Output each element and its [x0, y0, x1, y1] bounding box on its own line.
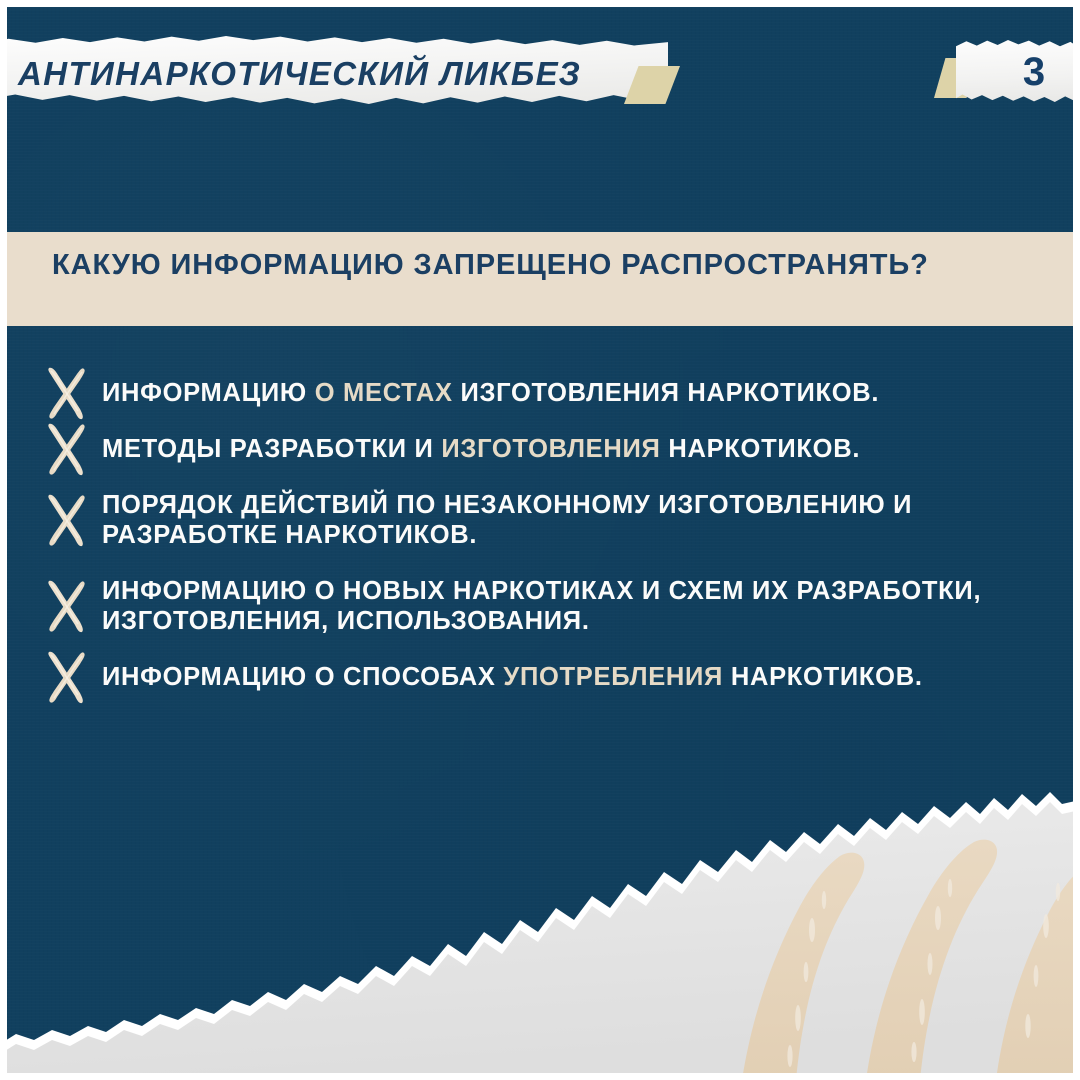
- plain-phrase: ИЗГОТОВЛЕНИЯ НАРКОТИКОВ.: [460, 379, 879, 407]
- list-item-text: ИНФОРМАЦИЮ О СПОСОБАХ УПОТРЕБЛЕНИЯ НАРКО…: [102, 662, 1004, 692]
- banner-title: АНТИНАРКОТИЧЕСКИЙ ЛИКБЕЗ: [18, 55, 638, 93]
- slide-canvas: АНТИНАРКОТИЧЕСКИЙ ЛИКБЕЗ 3 КАКУЮ ИНФОРМА…: [0, 0, 1080, 1080]
- plain-phrase: ИНФОРМАЦИЮ О НОВЫХ НАРКОТИКАХ И СХЕМ ИХ …: [102, 577, 981, 635]
- list-item-text: МЕТОДЫ РАЗРАБОТКИ И ИЗГОТОВЛЕНИЯ НАРКОТИ…: [102, 434, 1004, 464]
- x-cross-icon: [44, 492, 90, 548]
- list-item: МЕТОДЫ РАЗРАБОТКИ И ИЗГОТОВЛЕНИЯ НАРКОТИ…: [44, 434, 1004, 464]
- x-cross-icon: [44, 421, 90, 477]
- prohibited-info-list: ИНФОРМАЦИЮ О МЕСТАХ ИЗГОТОВЛЕНИЯ НАРКОТИ…: [44, 378, 1004, 718]
- question-heading: КАКУЮ ИНФОРМАЦИЮ ЗАПРЕЩЕНО РАСПРОСТРАНЯТ…: [52, 247, 952, 284]
- list-item: ИНФОРМАЦИЮ О МЕСТАХ ИЗГОТОВЛЕНИЯ НАРКОТИ…: [44, 378, 1004, 408]
- x-cross-icon: [44, 492, 90, 548]
- x-cross-icon: [44, 649, 90, 705]
- list-item: ИНФОРМАЦИЮ О НОВЫХ НАРКОТИКАХ И СХЕМ ИХ …: [44, 576, 1004, 636]
- list-item-text: ИНФОРМАЦИЮ О МЕСТАХ ИЗГОТОВЛЕНИЯ НАРКОТИ…: [102, 378, 1004, 408]
- x-cross-icon: [44, 421, 90, 477]
- plain-phrase: МЕТОДЫ РАЗРАБОТКИ И: [102, 435, 441, 463]
- x-cross-icon: [44, 365, 90, 421]
- list-item-text: ПОРЯДОК ДЕЙСТВИЙ ПО НЕЗАКОННОМУ ИЗГОТОВЛ…: [102, 490, 1004, 550]
- highlighted-phrase: О МЕСТАХ: [315, 379, 461, 407]
- page-number: 3: [1004, 50, 1064, 95]
- list-item: ПОРЯДОК ДЕЙСТВИЙ ПО НЕЗАКОННОМУ ИЗГОТОВЛ…: [44, 490, 1004, 550]
- plain-phrase: НАРКОТИКОВ.: [731, 663, 923, 691]
- x-cross-icon: [44, 578, 90, 634]
- plain-phrase: ИНФОРМАЦИЮ О СПОСОБАХ: [102, 663, 503, 691]
- plain-phrase: ИНФОРМАЦИЮ: [102, 379, 315, 407]
- highlighted-phrase: ИЗГОТОВЛЕНИЯ: [441, 435, 668, 463]
- plain-phrase: ПОРЯДОК ДЕЙСТВИЙ ПО НЕЗАКОННОМУ ИЗГОТОВЛ…: [102, 491, 912, 549]
- highlighted-phrase: УПОТРЕБЛЕНИЯ: [503, 663, 730, 691]
- plain-phrase: НАРКОТИКОВ.: [668, 435, 860, 463]
- x-cross-icon: [44, 365, 90, 421]
- x-cross-icon: [44, 649, 90, 705]
- x-cross-icon: [44, 578, 90, 634]
- list-item: ИНФОРМАЦИЮ О СПОСОБАХ УПОТРЕБЛЕНИЯ НАРКО…: [44, 662, 1004, 692]
- list-item-text: ИНФОРМАЦИЮ О НОВЫХ НАРКОТИКАХ И СХЕМ ИХ …: [102, 576, 1004, 636]
